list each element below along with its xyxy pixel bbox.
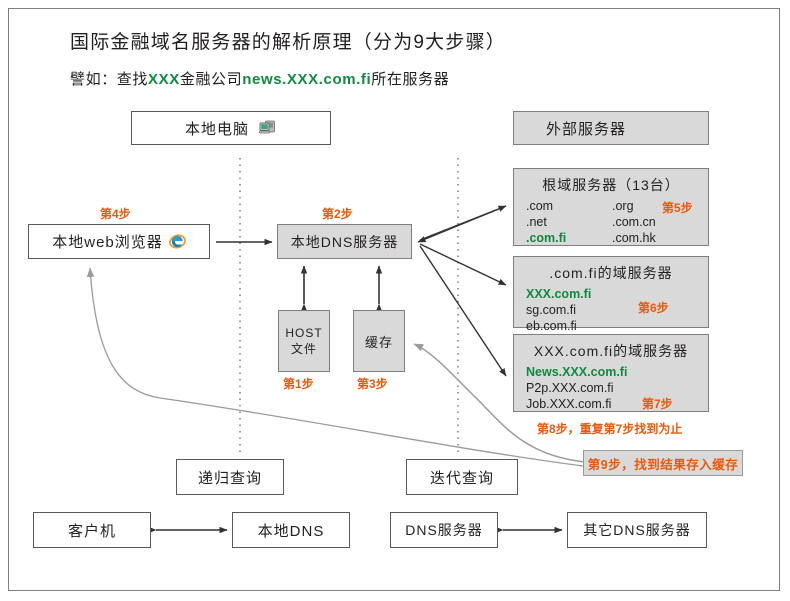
legend-client-label: 客户机: [68, 520, 116, 541]
header-local-computer-label: 本地电脑: [185, 118, 249, 139]
legend-other-dns-server-label: 其它DNS服务器: [583, 520, 691, 540]
subtitle-suffix: 所在服务器: [371, 71, 449, 88]
page-subtitle: 譬如：查找XXX金融公司news.XXX.com.fi所在服务器: [70, 68, 449, 89]
step-label-6: 第6步: [638, 301, 669, 316]
server-root-title: 根域服务器（13台）: [514, 169, 708, 195]
step-label-9: 第9步，找到结果存入缓存: [588, 454, 738, 473]
server-root-col2: .org .com.cn .com.hk: [612, 198, 656, 246]
step-9-callout: 第9步，找到结果存入缓存: [583, 450, 743, 476]
server-root-entry: .org: [612, 198, 656, 214]
step-label-3: 第3步: [357, 375, 388, 392]
server-root-entry: .com.cn: [612, 214, 656, 230]
legend-dns-server-label: DNS服务器: [405, 520, 483, 540]
server-comfi-title: .com.fi的域服务器: [514, 257, 708, 283]
subtitle-highlight-domain: news.XXX.com.fi: [242, 71, 371, 88]
server-xxx[interactable]: XXX.com.fi的域服务器 News.XXX.com.fi P2p.XXX.…: [513, 334, 709, 412]
node-local-dns-server-label: 本地DNS服务器: [291, 232, 399, 252]
server-comfi-entry-highlight: XXX.com.fi: [526, 286, 708, 302]
server-comfi-entry: eb.com.fi: [526, 318, 708, 334]
server-xxx-title: XXX.com.fi的域服务器: [514, 335, 708, 361]
node-host-file-label-1: HOST: [285, 325, 322, 341]
server-root[interactable]: 根域服务器（13台） .com .net .com.fi .org .com.c…: [513, 168, 709, 246]
legend-local-dns-label: 本地DNS: [258, 520, 325, 541]
legend-local-dns: 本地DNS: [232, 512, 350, 548]
legend-iterative-query-label: 迭代查询: [430, 467, 494, 488]
internet-explorer-icon: [169, 233, 186, 250]
node-cache[interactable]: 缓存: [353, 310, 405, 372]
server-root-entry: .com.hk: [612, 230, 656, 246]
node-web-browser[interactable]: 本地web浏览器: [28, 224, 210, 259]
server-comfi[interactable]: .com.fi的域服务器 XXX.com.fi sg.com.fi eb.com…: [513, 256, 709, 328]
computer-icon: [259, 119, 277, 137]
step-label-1: 第1步: [283, 375, 314, 392]
node-cache-label: 缓存: [365, 332, 393, 351]
legend-recursive-query-label: 递归查询: [198, 467, 262, 488]
subtitle-highlight-company: XXX: [148, 71, 180, 88]
step-label-5: 第5步: [662, 201, 693, 216]
legend-client: 客户机: [33, 512, 151, 548]
legend-dns-server: DNS服务器: [390, 512, 498, 548]
page-title: 国际金融域名服务器的解析原理（分为9大步骤）: [70, 27, 506, 54]
header-external-server-label: 外部服务器: [546, 118, 626, 139]
node-host-file-label-2: 文件: [291, 341, 317, 357]
step-label-7: 第7步: [642, 397, 673, 412]
server-root-body: .com .net .com.fi .org .com.cn .com.hk 第…: [514, 195, 708, 246]
server-xxx-body: News.XXX.com.fi P2p.XXX.com.fi Job.XXX.c…: [514, 361, 708, 412]
server-xxx-entry: P2p.XXX.com.fi: [526, 380, 708, 396]
diagram-canvas: 国际金融域名服务器的解析原理（分为9大步骤） 譬如：查找XXX金融公司news.…: [0, 0, 790, 601]
server-xxx-entry: Job.XXX.com.fi: [526, 396, 708, 412]
subtitle-prefix: 譬如：查找: [70, 71, 148, 88]
node-local-dns-server[interactable]: 本地DNS服务器: [277, 224, 412, 259]
node-host-file[interactable]: HOST 文件: [278, 310, 330, 372]
header-local-computer: 本地电脑: [131, 111, 331, 145]
server-comfi-entry: sg.com.fi: [526, 302, 708, 318]
step-label-4: 第4步: [100, 205, 131, 222]
legend-other-dns-server: 其它DNS服务器: [567, 512, 707, 548]
subtitle-mid: 金融公司: [180, 71, 242, 88]
node-web-browser-label: 本地web浏览器: [52, 231, 163, 252]
header-external-server: 外部服务器: [513, 111, 709, 145]
legend-recursive-query: 递归查询: [176, 459, 284, 495]
server-xxx-entry-highlight: News.XXX.com.fi: [526, 364, 708, 380]
server-comfi-body: XXX.com.fi sg.com.fi eb.com.fi 第6步: [514, 283, 708, 334]
step-label-8: 第8步，重复第7步找到为止: [537, 420, 682, 437]
step-label-2: 第2步: [322, 205, 353, 222]
legend-iterative-query: 迭代查询: [406, 459, 518, 495]
